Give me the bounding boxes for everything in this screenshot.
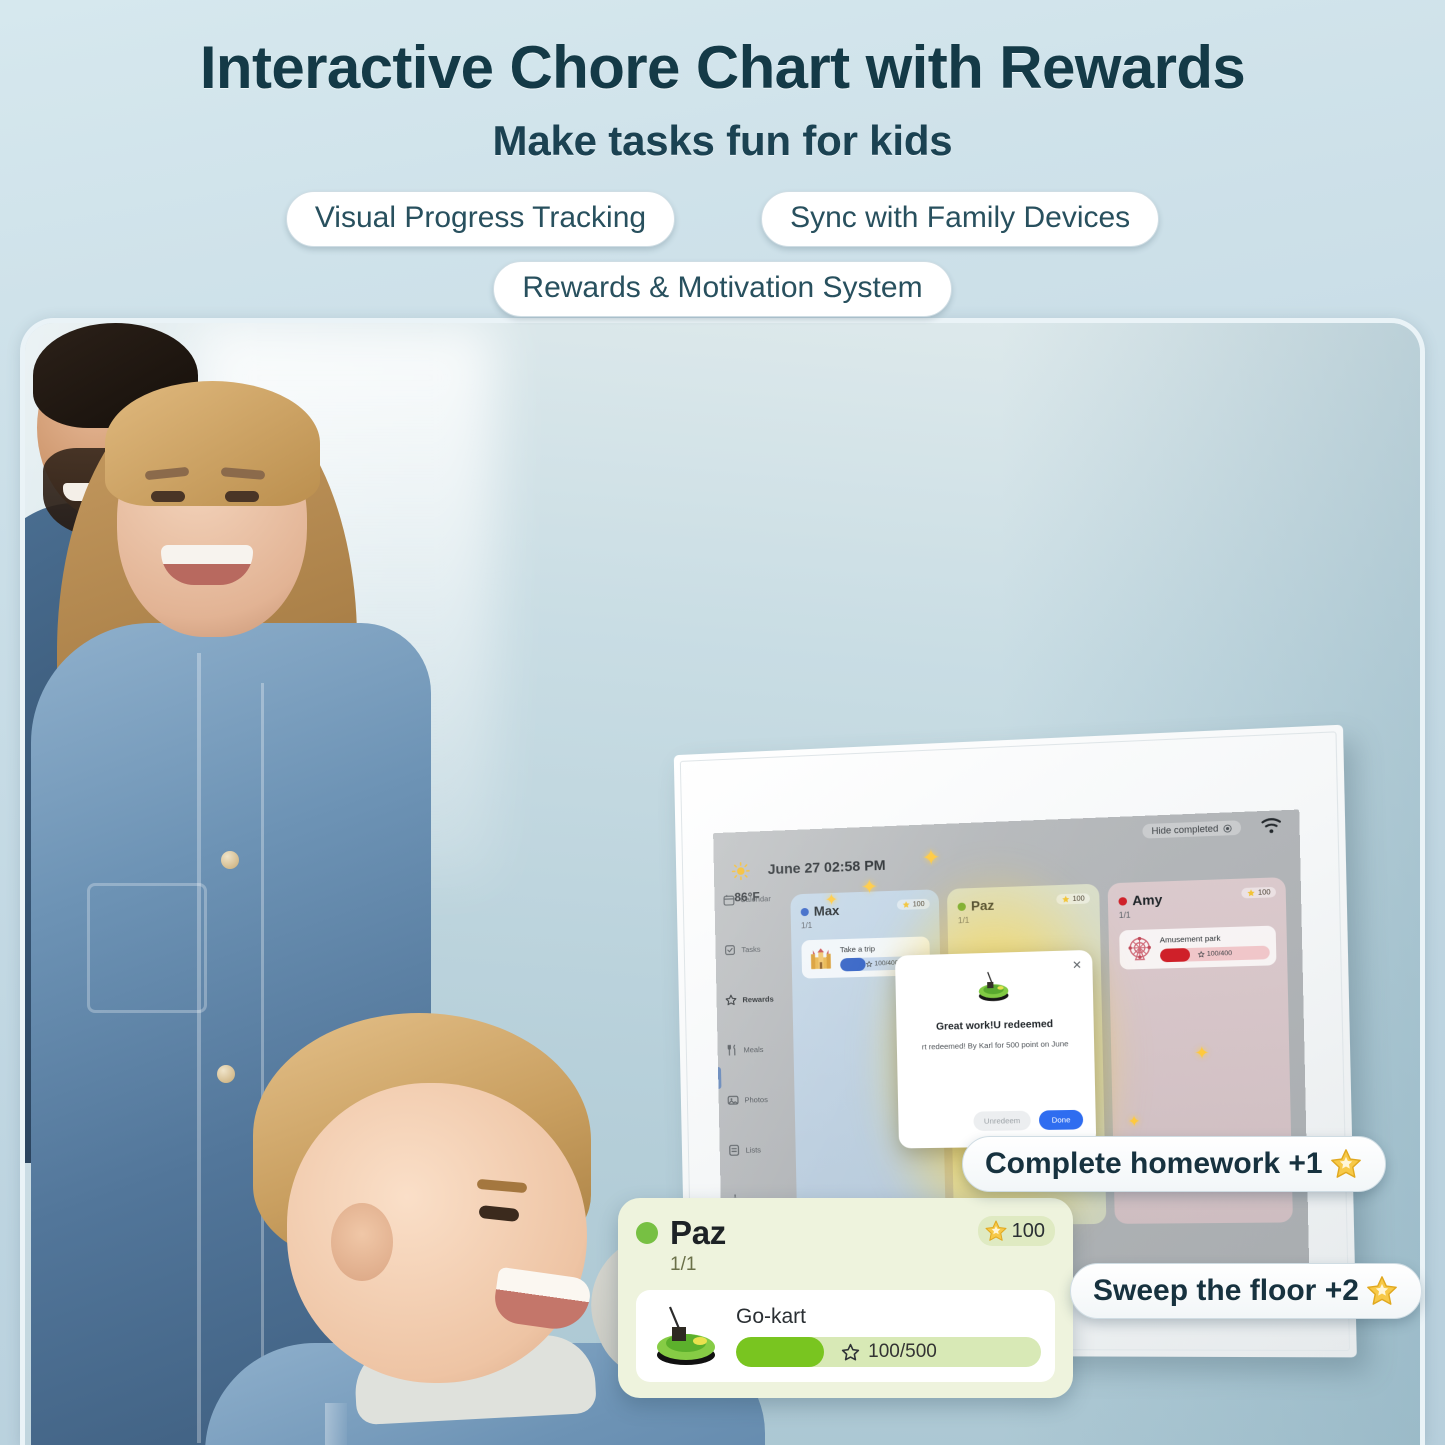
kid-name-max: Max — [814, 903, 840, 919]
sidebar-label-tasks: Tasks — [741, 944, 760, 954]
sidebar-item-lists[interactable]: Lists — [727, 1138, 785, 1161]
denim-seam — [261, 683, 264, 1443]
kid-color-dot-paz — [958, 902, 966, 910]
reward-redeemed-dialog[interactable]: ✕ Great work!U redeemed rt redeemed! By … — [895, 950, 1096, 1149]
calendar-icon — [722, 893, 735, 906]
paz-points-badge: 100 — [978, 1216, 1055, 1246]
person-child-ear — [331, 1203, 393, 1281]
reward-title-max: Take a trip — [840, 943, 924, 955]
sidebar-item-rewards[interactable]: Rewards — [724, 987, 782, 1011]
close-icon[interactable]: ✕ — [1072, 958, 1082, 972]
callout-sweep-the-floor[interactable]: Sweep the floor +2 — [1070, 1263, 1422, 1319]
paz-reward-progress-text: 100/500 — [736, 1337, 1041, 1367]
go-kart-icon — [650, 1305, 722, 1367]
denim-placket — [325, 1403, 347, 1445]
kid-points-badge-amy: 100 — [1242, 887, 1277, 899]
page-title: Interactive Chore Chart with Rewards — [0, 0, 1445, 99]
kid-points-badge-max: 100 — [897, 899, 930, 910]
paz-color-dot — [636, 1222, 658, 1244]
active-nav-indicator — [718, 1067, 721, 1089]
hide-completed-label: Hide completed — [1151, 823, 1218, 836]
unredeem-button[interactable]: Unredeem — [973, 1111, 1031, 1131]
sidebar-label-rewards: Rewards — [742, 994, 773, 1004]
reward-progress-text-amy: 100/400 — [1160, 946, 1270, 963]
paz-progress-label: 1/1 — [670, 1254, 1055, 1276]
star-icon — [1062, 895, 1071, 904]
denim-seam — [197, 653, 201, 1443]
star-icon — [902, 900, 910, 908]
denim-pocket — [87, 883, 207, 1013]
star-outline-icon — [1197, 951, 1205, 958]
castle-icon — [807, 945, 834, 972]
callout-homework-label: Complete homework +1 — [985, 1147, 1323, 1181]
feature-pill-row-secondary: Rewards & Motivation System — [0, 261, 1445, 317]
sidebar-label-calendar: Calendar — [740, 894, 771, 904]
reward-title-amy: Amusement park — [1160, 932, 1270, 945]
tasks-icon — [723, 943, 736, 956]
paz-reward-progress-value: 100/500 — [868, 1341, 937, 1363]
star-outline-icon — [840, 1342, 861, 1363]
kid-progress-max: 1/1 — [801, 917, 929, 930]
reward-progress-bar-amy: 100/400 — [1160, 946, 1270, 963]
star-outline-icon — [724, 993, 737, 1006]
sidebar-item-photos[interactable]: Photos — [726, 1088, 784, 1111]
feature-pill-row-primary: Visual Progress Tracking Sync with Famil… — [0, 191, 1445, 247]
reward-card-amy[interactable]: Amusement park 100/400 — [1119, 926, 1276, 970]
wifi-icon[interactable] — [1260, 817, 1282, 835]
kid-color-dot-max — [801, 907, 809, 915]
kid-points-value-paz: 100 — [1072, 895, 1084, 903]
person-mother-eye — [225, 491, 259, 502]
star-icon — [1247, 889, 1256, 898]
star-icon — [1365, 1274, 1399, 1308]
dialog-title: Great work!U redeemed — [896, 1018, 1093, 1034]
paz-reward-progress-bar: 100/500 — [736, 1337, 1041, 1367]
go-kart-icon — [974, 969, 1012, 1005]
paz-name-label: Paz — [670, 1214, 726, 1252]
reward-body-amy: Amusement park 100/400 — [1160, 932, 1270, 962]
ferris-wheel-icon — [1126, 936, 1154, 964]
sun-icon — [732, 862, 750, 881]
feature-pill-rewards-motivation-system[interactable]: Rewards & Motivation System — [493, 261, 951, 317]
page-subtitle: Make tasks fun for kids — [0, 117, 1445, 165]
kid-color-dot-amy — [1118, 897, 1127, 906]
denim-button — [221, 851, 239, 869]
sidebar-label-photos: Photos — [744, 1095, 768, 1104]
sidebar-item-tasks[interactable]: Tasks — [723, 937, 781, 961]
paz-points-value: 100 — [1012, 1220, 1045, 1243]
star-outline-icon — [865, 960, 872, 967]
hide-completed-toggle[interactable]: Hide completed — [1143, 820, 1241, 838]
sidebar-item-meals[interactable]: Meals — [725, 1037, 783, 1060]
feature-pill-visual-progress-tracking[interactable]: Visual Progress Tracking — [286, 191, 675, 247]
kid-points-value-max: 100 — [913, 900, 925, 908]
meals-icon — [725, 1043, 738, 1056]
star-icon — [984, 1219, 1008, 1243]
paz-reward-body: Go-kart 100/500 — [736, 1305, 1041, 1367]
kid-name-paz: Paz — [971, 898, 995, 914]
star-icon — [1329, 1147, 1363, 1181]
dialog-button-row: Unredeem Done — [973, 1110, 1083, 1131]
callout-complete-homework[interactable]: Complete homework +1 — [962, 1136, 1386, 1192]
paz-reward-title: Go-kart — [736, 1305, 1041, 1329]
feature-pill-sync-with-family-devices[interactable]: Sync with Family Devices — [761, 191, 1159, 247]
kid-progress-paz: 1/1 — [958, 912, 1090, 925]
hero-header: Interactive Chore Chart with Rewards Mak… — [0, 0, 1445, 300]
denim-button — [217, 1065, 235, 1083]
dialog-description: rt redeemed! By Karl for 500 point on Ju… — [907, 1039, 1084, 1053]
callout-sweep-label: Sweep the floor +2 — [1093, 1274, 1359, 1308]
paz-reward-row[interactable]: Go-kart 100/500 — [636, 1290, 1055, 1382]
sidebar-label-meals: Meals — [743, 1044, 763, 1053]
kid-name-amy: Amy — [1132, 892, 1162, 909]
lists-icon — [728, 1143, 741, 1156]
person-mother-fringe — [105, 381, 320, 506]
paz-reward-card[interactable]: 100 Paz 1/1 Go-kart 100/500 — [618, 1198, 1073, 1398]
photos-icon — [726, 1093, 739, 1106]
done-button[interactable]: Done — [1039, 1110, 1083, 1130]
toggle-icon — [1223, 823, 1233, 833]
kid-points-badge-paz: 100 — [1057, 893, 1091, 904]
sidebar-label-lists: Lists — [745, 1145, 761, 1154]
date-time-label: June 27 02:58 PM — [768, 857, 886, 878]
reward-progress-value-amy: 100/400 — [1207, 950, 1232, 958]
kid-points-value-amy: 100 — [1258, 889, 1271, 897]
sidebar-item-calendar[interactable]: Calendar — [722, 887, 780, 911]
person-mother-eye — [151, 491, 185, 502]
